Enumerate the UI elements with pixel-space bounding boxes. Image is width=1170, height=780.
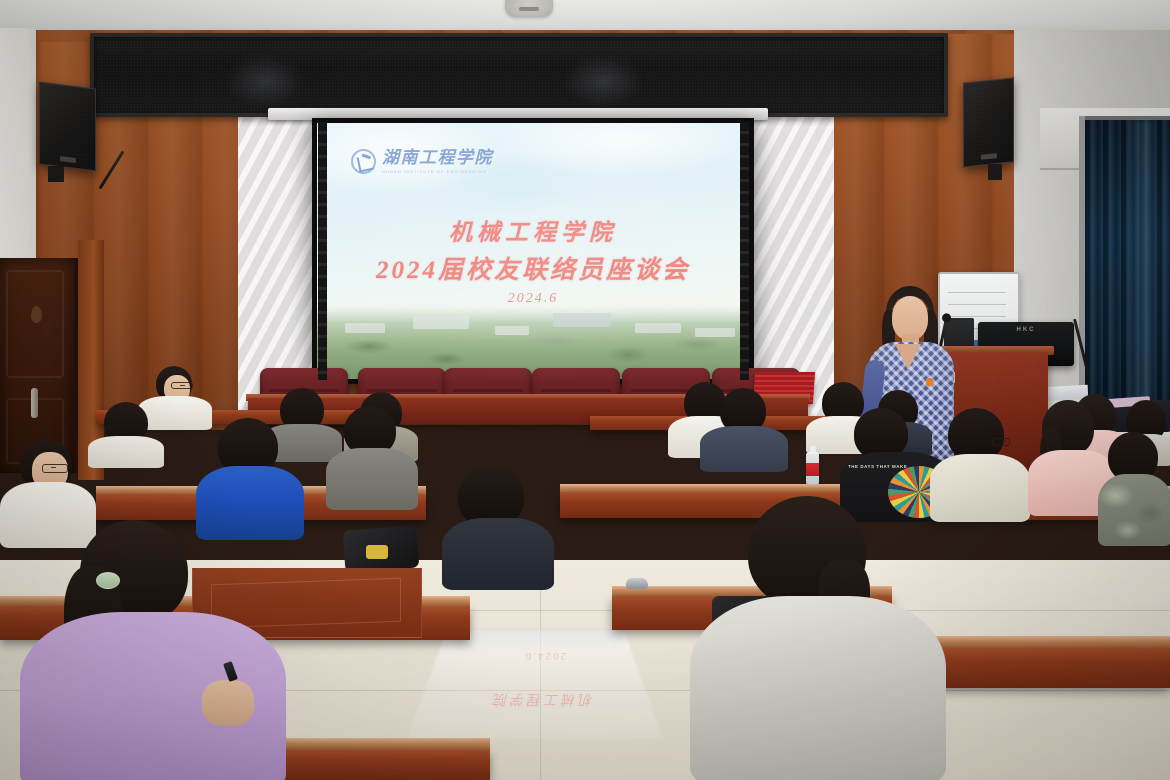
person-torso	[690, 596, 946, 780]
university-emblem-icon	[351, 149, 376, 174]
campus-building	[495, 326, 529, 335]
wall-speaker-left	[39, 82, 96, 172]
shirt-slogan-text: THE DAYS THAT MAKE	[848, 464, 907, 469]
led-banner-display	[90, 33, 948, 117]
lecture-hall-photo: 湖南工程学院 HUNAN INSTITUTE OF ENGINEERING 机械…	[0, 0, 1170, 780]
audience-person-grey-row2	[326, 406, 416, 506]
led-ghost-glyph	[564, 55, 642, 107]
person-torso	[1098, 474, 1170, 546]
speaker-grille	[45, 88, 90, 165]
campus-building	[553, 313, 611, 327]
yellow-pouch[interactable]	[366, 545, 388, 559]
campus-building	[345, 323, 385, 333]
monitor-brand-label: HKC	[978, 327, 1074, 333]
person-torso	[700, 426, 788, 472]
person-torso	[326, 448, 418, 510]
university-name-cn: 湖南工程学院	[382, 149, 493, 166]
speaker-bracket-right	[988, 164, 1002, 180]
floor-reflection-buildings	[455, 630, 625, 652]
campus-building	[413, 316, 469, 329]
audience-person-dark-small	[442, 466, 550, 584]
presentation-slide: 湖南工程学院 HUNAN INSTITUTE OF ENGINEERING 机械…	[317, 123, 749, 379]
floor-reflection-title: 机械工程学院	[452, 690, 632, 710]
slide-date: 2024.6	[317, 291, 749, 307]
person-hand	[202, 680, 254, 726]
university-logo: 湖南工程学院 HUNAN INSTITUTE OF ENGINEERING	[351, 149, 493, 174]
screen-side-strip-left	[318, 122, 327, 380]
curtain-highlight	[1128, 120, 1158, 442]
audience-person-navy-shirt	[700, 388, 786, 468]
audience-person-beige-shirt	[930, 408, 1026, 516]
door-panel-upper	[6, 270, 64, 378]
wall-speaker-right	[963, 77, 1014, 167]
slide-title-line2: 2024届校友联络员座谈会	[317, 250, 749, 286]
door-handle[interactable]	[31, 388, 38, 418]
ceiling-light-icon	[505, 0, 553, 17]
water-bottle[interactable]	[806, 452, 819, 486]
floor-reflection-date: 2024.6	[470, 650, 620, 662]
audience-person-blue-tshirt	[196, 418, 300, 534]
door-crest-icon	[31, 306, 42, 323]
eyeglasses-icon	[992, 438, 1010, 446]
audience-person-purple-shirt	[20, 520, 280, 780]
person-torso	[442, 518, 554, 590]
eyeglasses-icon	[42, 464, 68, 473]
person-torso	[930, 454, 1030, 522]
campus-building	[635, 323, 681, 333]
audience-person-bob-hair	[88, 402, 162, 462]
hair-scrunchie	[96, 572, 120, 589]
led-ghost-glyph	[226, 55, 304, 107]
audience-person-camo-shirt	[1098, 432, 1170, 542]
slide-title-line1: 机械工程学院	[317, 213, 749, 247]
speaker-grille	[969, 84, 1008, 161]
university-name-en: HUNAN INSTITUTE OF ENGINEERING	[382, 169, 493, 174]
led-pixel-grid	[94, 37, 944, 113]
projection-screen: 湖南工程学院 HUNAN INSTITUTE OF ENGINEERING 机械…	[312, 118, 754, 384]
slide-title-block: 机械工程学院 2024届校友联络员座谈会	[317, 213, 749, 286]
speaker-badge	[60, 156, 76, 163]
eyeglasses-icon	[171, 382, 193, 389]
campus-building	[695, 328, 735, 337]
shoe	[626, 578, 648, 589]
presenter-badge-icon	[926, 378, 933, 386]
screen-side-strip-right	[740, 122, 749, 380]
audience-person-grey-near	[690, 496, 940, 780]
speaker-badge	[981, 153, 997, 160]
person-torso	[88, 436, 164, 468]
speaker-bracket-left	[48, 166, 64, 182]
